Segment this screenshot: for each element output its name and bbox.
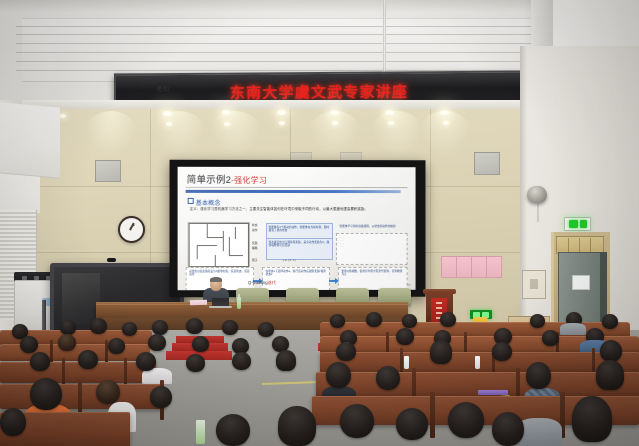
ceiling-downlight [388,121,394,125]
audience-head [336,342,356,361]
audience-head [0,408,26,436]
slide-title-highlight: 强化学习 [234,176,267,185]
laptop[interactable] [212,298,229,307]
audience-head [30,352,50,371]
audience-head [276,350,296,371]
ceiling-downlight [224,122,230,126]
seat-row[interactable] [0,384,164,409]
door-sign [572,275,590,290]
audience-shoulders [560,323,586,335]
slide-body-text: 定义：强化学习是机器学习方法之一，主要关注智能体如何在环境中采取不同的行动，以最… [190,207,406,212]
ceiling-downlight [279,121,285,125]
ceiling-downlight [440,110,449,115]
ceiling-downlight [385,110,394,115]
exit-sign-icon [564,217,591,231]
audience-head [136,352,156,371]
exit-arrow-icon [580,220,587,228]
audience-head [186,318,203,334]
audience-head [526,362,551,389]
ceiling-downlight [163,111,172,116]
water-bottle [475,356,480,369]
seat-divider [430,392,435,438]
wall-poster [456,256,472,278]
slide-label-discount: 因子 [252,259,258,263]
audience-head [58,334,76,351]
audience-head [542,330,559,346]
light-glow [418,111,472,157]
ceiling-downlight [443,121,449,125]
slide-footer-highlight: 迭代 [268,280,276,285]
audience-head [232,352,251,370]
slide-page-number: 25 [407,283,410,287]
water-bottle [237,297,241,309]
wall-clock [118,216,145,243]
exit-running-man-icon [569,220,578,228]
audience-head [596,360,624,390]
presentation-slide: 简单示例2-强化学习 基本概念 定义：强化学习是机器学习方法之一，主要关注智能体… [178,167,416,290]
audience-head [90,318,107,334]
clock-minute-hand-icon [130,224,135,229]
ceiling-downlight [277,110,286,115]
audience-head [602,314,618,329]
ceiling-downlight [222,110,231,115]
slide-formula: γ ∈ [ 0 , 1 ] [283,259,296,263]
wall-poster [441,256,457,278]
light-glow [84,111,138,157]
bullet-square-icon [188,198,194,204]
slide-section-heading: 基本概念 [188,198,221,207]
audience-head-foreground [340,404,374,438]
audience-head [186,354,205,372]
audience-head [258,322,274,337]
slide-step-3-text: 更新Q值函数，使用贝尔曼方程迭代更新，直到收敛为止 [340,268,407,278]
audience-head [122,322,137,336]
audience-head [600,340,622,362]
slide-box-r1c3: 智能体学习到的决策规则，从状态到动作的映射 [338,223,407,229]
audience-head [20,336,38,353]
audience-head-foreground [278,406,316,446]
audience-head [60,320,76,335]
audience-head [330,314,345,328]
wall-poster [486,256,502,278]
wall-upper-trim [0,100,520,109]
ceiling-downlight [330,110,339,115]
light-glow [308,111,362,157]
audience-head [78,350,98,369]
speaker-hair [210,277,222,282]
security-camera-icon [527,186,547,203]
water-bottle [196,420,205,444]
wall-access-panel [95,160,121,182]
audience-head-foreground [396,408,428,440]
audience-head [396,328,414,345]
wall-access-panel [474,152,500,175]
light-glow [152,111,206,157]
light-glow [208,111,262,157]
slide-footer: Q-learning迭代 [248,280,276,286]
slide-step-2-text: 在状态s下选择动作a，执行该动作后观察奖励r和新状态s' [264,268,329,278]
audience-head-foreground [448,402,484,438]
wall-notice-frame [522,270,546,299]
slide-accent-bar [186,190,401,193]
slide-title-rule [186,187,408,188]
slide-title-main: 简单示例2 [187,175,232,186]
slide-step-1-text: 初始化Q值表随机设为0或零的值，任意状态、任意动作 [188,268,253,278]
wall-poster [471,256,487,278]
water-bottle [404,356,409,369]
ceiling-downlight [60,114,66,118]
audience-head-foreground [572,396,612,442]
audience-head [440,312,456,327]
audience-head [192,336,209,352]
slide-label-policy: 策略 [252,247,258,251]
audience-head [402,314,417,328]
audience-head [108,338,125,354]
smartboard-camera-icon [107,258,116,262]
lecture-hall-photo: 通知 欢迎 东南大学虞文武专家讲座 [0,0,639,446]
projection-screen: 简单示例2-强化学习 基本概念 定义：强化学习是机器学习方法之一，主要关注智能体… [170,160,426,298]
audience-head [148,334,166,351]
audience-head [376,366,400,390]
audience-head [492,342,512,361]
ceiling-downlight [166,122,172,126]
slide-title: 简单示例2-强化学习 [187,172,267,186]
audience-head [222,320,238,335]
audience-head [366,312,382,327]
audience-head [150,386,172,408]
audience-head [530,314,545,328]
maze-diagram [188,222,250,268]
light-glow [370,111,424,157]
audience-head [326,362,351,388]
book-on-desk [478,390,508,395]
left-soffit [0,102,60,178]
audience-head-foreground [492,412,524,446]
audience-head-foreground [216,414,250,446]
slide-label-action: 动作 [252,229,258,233]
audience-head [152,320,168,335]
flow-arrow-icon [329,280,335,282]
table-papers [190,300,207,305]
slide-box-r1c2: 到达迷宫的出口则获得奖励，其余动作奖励为0，碰到墙壁则有负奖励 [266,238,333,260]
audience-head-foreground [30,378,62,410]
audience-head [430,340,452,364]
slide-matrix-box: · · · ·· · · ·· · · ·· · · · [336,233,408,265]
audience-head [96,380,120,404]
slide-footer-text: Q-learning [248,280,268,285]
ceiling-downlight [332,121,338,125]
banner-ghost-left: 通知 [156,84,170,93]
